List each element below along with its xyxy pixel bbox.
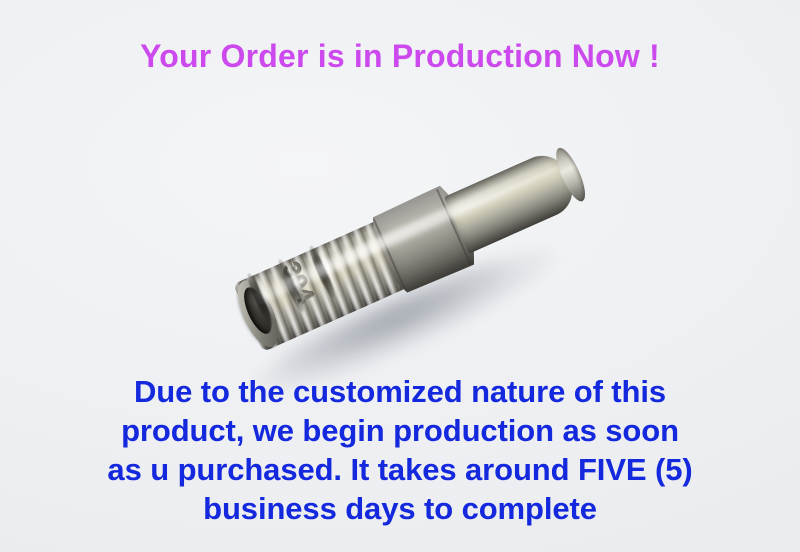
notice-line-3: as u purchased. It takes around FIVE (5) <box>0 450 800 489</box>
notice-line-1: Due to the customized nature of this <box>0 372 800 411</box>
notice-line-4: business days to complete <box>0 489 800 528</box>
page-title: Your Order is in Production Now ! <box>0 38 800 75</box>
notice-image: Your Order is in Production Now ! 304 <box>0 0 800 552</box>
product-photo: 304 <box>205 140 605 385</box>
production-notice-text: Due to the customized nature of this pro… <box>0 372 800 528</box>
notice-line-2: product, we begin production as soon <box>0 411 800 450</box>
